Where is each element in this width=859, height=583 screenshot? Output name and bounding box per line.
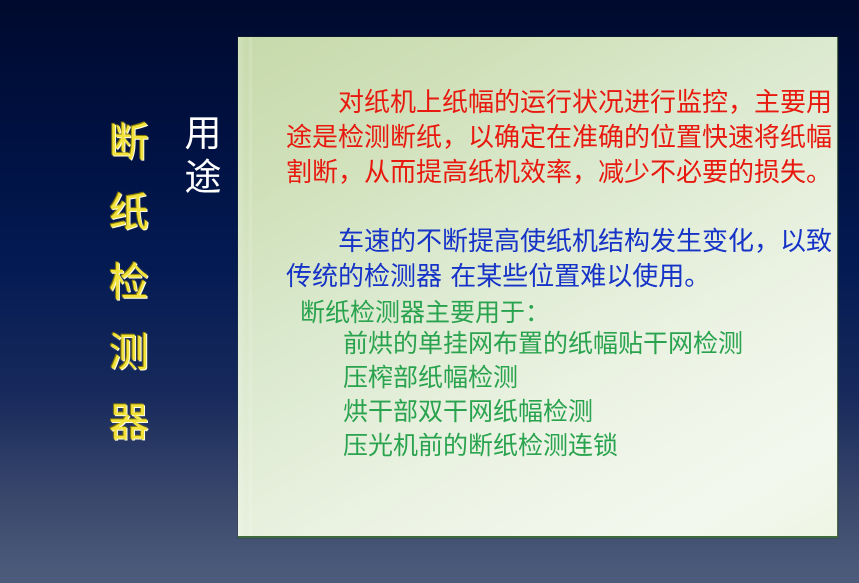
subtitle-char-1: 用: [185, 112, 222, 156]
vertical-title-char-1: 断: [109, 108, 149, 178]
subtitle-char-2: 途: [185, 156, 222, 200]
list-item: 前烘的单挂网布置的纸幅贴干网检测: [343, 327, 838, 361]
list-item: 压榨部纸幅检测: [343, 361, 838, 395]
paragraph-purpose-red: 对纸机上纸幅的运行状况进行监控，主要用途是检测断纸，以确定在准确的位置快速将纸幅…: [286, 86, 834, 191]
green-list-heading: 断纸检测器主要用于：: [300, 296, 550, 330]
content-panel: 对纸机上纸幅的运行状况进行监控，主要用途是检测断纸，以确定在准确的位置快速将纸幅…: [238, 37, 838, 538]
vertical-title-char-4: 测: [109, 318, 149, 388]
list-item: 压光机前的断纸检测连锁: [343, 429, 838, 463]
slide-subtitle: 用 途: [176, 112, 230, 200]
slide-vertical-title: 断 纸 检 测 器: [98, 108, 160, 458]
vertical-title-char-3: 检: [109, 248, 149, 318]
vertical-title-char-5: 器: [109, 388, 149, 458]
vertical-title-char-2: 纸: [109, 178, 149, 248]
green-application-list: 前烘的单挂网布置的纸幅贴干网检测 压榨部纸幅检测 烘干部双干网纸幅检测 压光机前…: [343, 327, 838, 463]
presentation-slide: 断 纸 检 测 器 用 途 对纸机上纸幅的运行状况进行监控，主要用途是检测断纸，…: [0, 0, 859, 583]
list-item: 烘干部双干网纸幅检测: [343, 395, 838, 429]
paragraph-speed-blue: 车速的不断提高使纸机结构发生变化，以致传统的检测器 在某些位置难以使用。: [286, 225, 834, 295]
